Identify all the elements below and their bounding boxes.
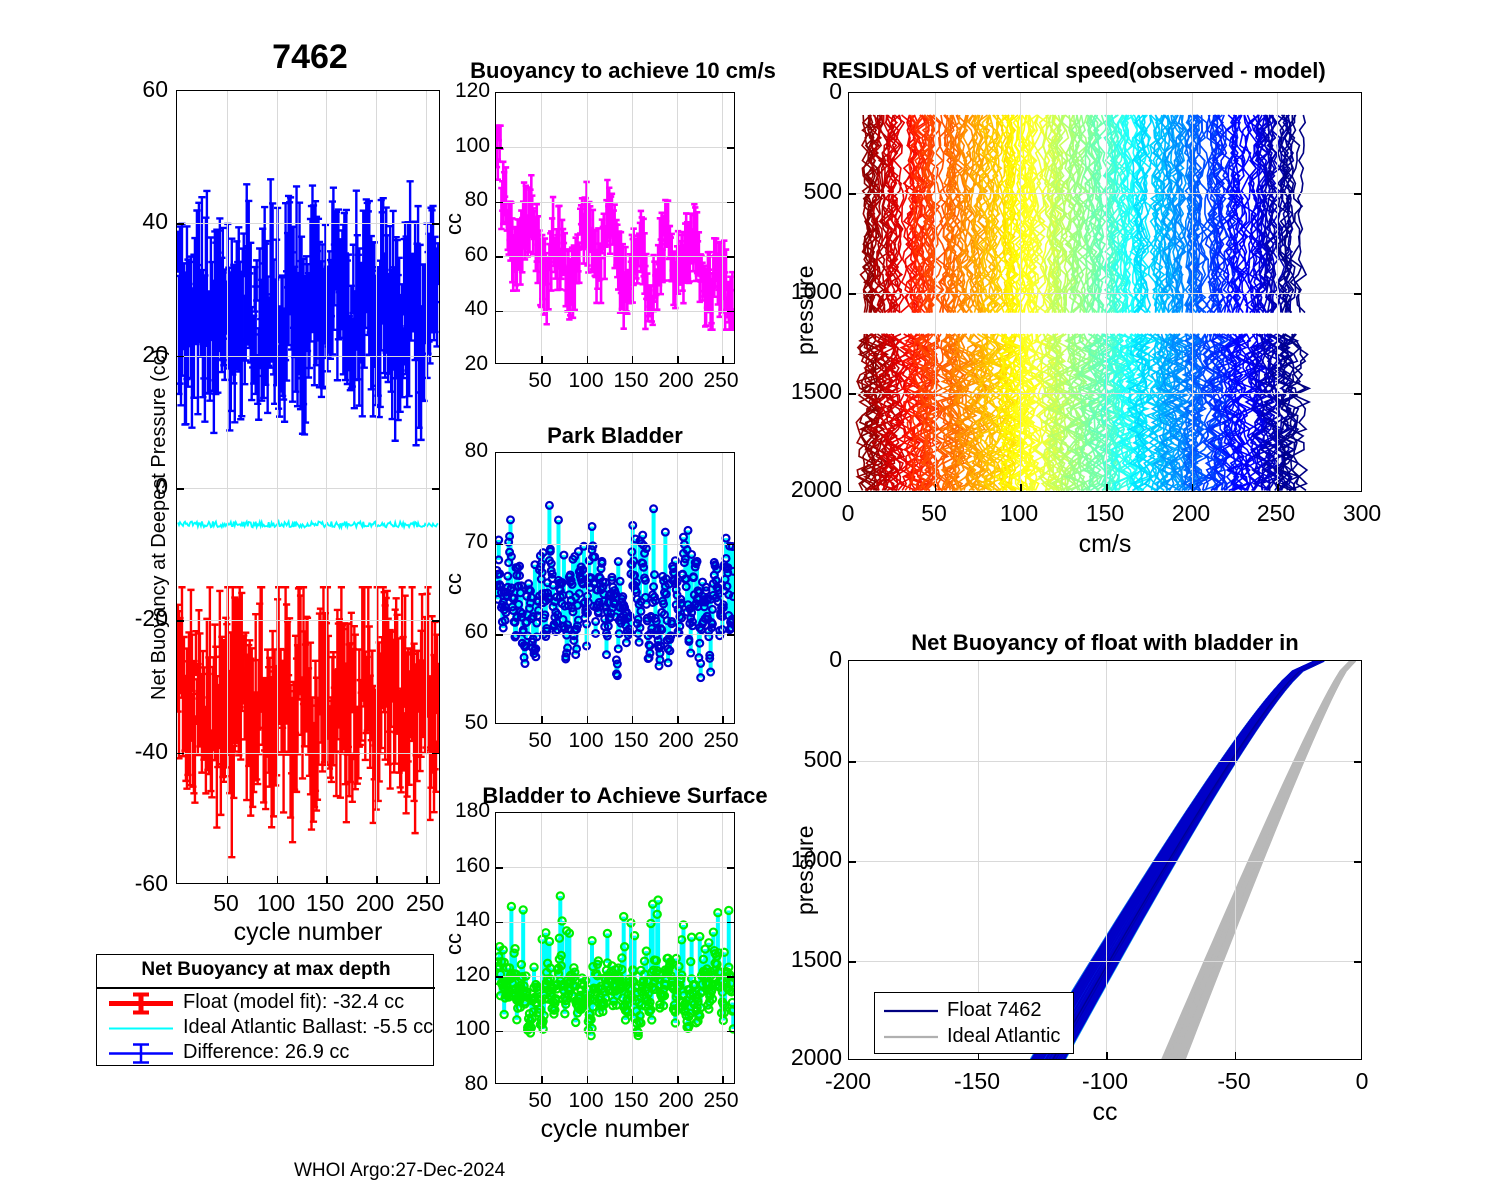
panel-buoy10-ytick-1: 100 [455,134,488,158]
panel-park-ytick-0: 80 [455,439,488,463]
panel-buoy10-ytick-0: 120 [455,79,488,103]
panel-residuals-xtick-6: 300 [1332,500,1392,527]
panel-surface-ytick-2: 140 [455,908,488,932]
panel-residuals-xtick-0: 0 [818,500,878,527]
panel-park-ytick-3: 50 [455,711,488,735]
panel-buoy10-ytick-2: 80 [455,188,488,212]
legend-netbuoy-label-1: Ideal Atlantic [947,1025,1060,1048]
legend-left-label-1: Ideal Atlantic Ballast: -5.5 cc [183,1016,433,1039]
panel-residuals-xtick-3: 150 [1075,500,1135,527]
panel-netbuoy-xtick-3: -50 [1196,1068,1272,1095]
panel-surface-xtick-4: 250 [695,1089,747,1113]
panel-left-ytick-1: 40 [110,208,168,235]
legend-left-item-2: Difference: 26.9 cc [97,1041,435,1066]
panel-residuals-xlabel: cm/s [848,530,1362,559]
figure-footer: WHOI Argo:27-Dec-2024 [294,1160,505,1182]
panel-left-title: 7462 [175,38,445,77]
panel-park-xtick-4: 250 [695,729,747,753]
errorbar-red-icon [105,991,177,1016]
panel-surface-axes [495,812,735,1084]
legend-netbuoy-label-0: Float 7462 [947,999,1042,1022]
panel-residuals-ytick-3: 1500 [778,378,842,405]
panel-netbuoy-ytick-4: 2000 [778,1044,842,1071]
panel-left-ytick-6: -60 [102,870,168,897]
panel-netbuoy-xtick-1: -150 [939,1068,1015,1095]
panel-surface-xtick-0: 50 [514,1089,566,1113]
panel-residuals-ytick-4: 2000 [778,476,842,503]
panel-netbuoy-xtick-4: 0 [1324,1068,1400,1095]
legend-netbuoy-item-0: Float 7462 [875,998,1075,1024]
panel-surface-ylabel: cc [441,933,467,955]
panel-park-xtick-0: 50 [514,729,566,753]
panel-residuals-xtick-1: 50 [904,500,964,527]
panel-left-xtick-4: 250 [395,890,455,917]
panel-buoy10-title: Buoyancy to achieve 10 cm/s [448,58,798,84]
panel-residuals-ytick-2: 1000 [778,278,842,305]
panel-left-xlabel: cycle number [176,918,440,947]
panel-buoy10-ytick-3: 60 [455,243,488,267]
panel-buoy10-xtick-4: 250 [695,369,747,393]
panel-left-ytick-3: 0 [110,473,168,500]
panel-surface-data [496,813,735,1084]
legend-left-label-0: Float (model fit): -32.4 cc [183,991,404,1014]
panel-netbuoy-ytick-2: 1000 [778,846,842,873]
panel-left-ytick-2: 20 [110,341,168,368]
line-navy-icon [881,998,941,1024]
panel-surface-ytick-0: 180 [455,799,488,823]
legend-left-item-0: Float (model fit): -32.4 cc [97,991,435,1016]
legend-left-label-2: Difference: 26.9 cc [183,1041,349,1064]
panel-buoy10-data [496,93,735,364]
legend-netbuoy: Float 7462 Ideal Atlantic [874,992,1074,1054]
panel-left-ytick-0: 60 [110,76,168,103]
panel-netbuoy-title: Net Buoyancy of float with bladder in [848,630,1362,656]
panel-park-ytick-2: 60 [455,620,488,644]
panel-left-axes [176,90,440,884]
panel-buoy10-ytick-4: 40 [455,297,488,321]
panel-left-ytick-5: -40 [102,738,168,765]
errorbar-blue-icon [105,1041,177,1066]
panel-left-ytick-4: -20 [102,605,168,632]
panel-residuals-ytick-0: 0 [800,78,842,105]
panel-netbuoy-ytick-3: 1500 [778,946,842,973]
panel-buoy10-ytick-5: 20 [455,352,488,376]
panel-surface-xlabel: cycle number [495,1115,735,1144]
line-cyan-icon [105,1016,177,1041]
panel-surface-title: Bladder to Achieve Surface [455,783,795,809]
panel-buoy10-axes [495,92,735,364]
panel-residuals-axes [848,92,1362,492]
panel-residuals-xtick-4: 200 [1161,500,1221,527]
panel-buoy10-ylabel: cc [441,213,467,235]
panel-residuals-title: RESIDUALS of vertical speed(observed - m… [822,58,1442,84]
panel-surface-ytick-4: 100 [455,1017,488,1041]
panel-park-ytick-1: 70 [455,530,488,554]
line-gray-icon [881,1024,941,1050]
panel-residuals-ytick-1: 500 [790,178,842,205]
panel-netbuoy-ytick-0: 0 [800,646,842,673]
panel-residuals-xtick-2: 100 [989,500,1049,527]
legend-net-buoyancy-max-depth: Net Buoyancy at max depth Float (model f… [96,954,434,1066]
panel-park-title: Park Bladder [495,423,735,449]
panel-left-ylabel: Net Buoyancy at Deepest Pressure (cc) [148,349,171,700]
legend-left-item-1: Ideal Atlantic Ballast: -5.5 cc [97,1016,435,1041]
panel-surface-ytick-1: 160 [455,854,488,878]
panel-park-axes [495,452,735,724]
panel-netbuoy-xlabel: cc [848,1098,1362,1127]
panel-netbuoy-xtick-0: -200 [810,1068,886,1095]
legend-left-title: Net Buoyancy at max depth [97,959,435,981]
panel-netbuoy-xtick-2: -100 [1067,1068,1143,1095]
panel-park-ylabel: cc [441,573,467,595]
panel-park-data [496,453,735,724]
panel-buoy10-xtick-0: 50 [514,369,566,393]
panel-surface-ytick-3: 120 [455,963,488,987]
panel-netbuoy-ytick-1: 500 [790,746,842,773]
legend-netbuoy-item-1: Ideal Atlantic [875,1024,1075,1050]
panel-surface-ytick-5: 80 [455,1072,488,1096]
panel-residuals-xtick-5: 250 [1246,500,1306,527]
